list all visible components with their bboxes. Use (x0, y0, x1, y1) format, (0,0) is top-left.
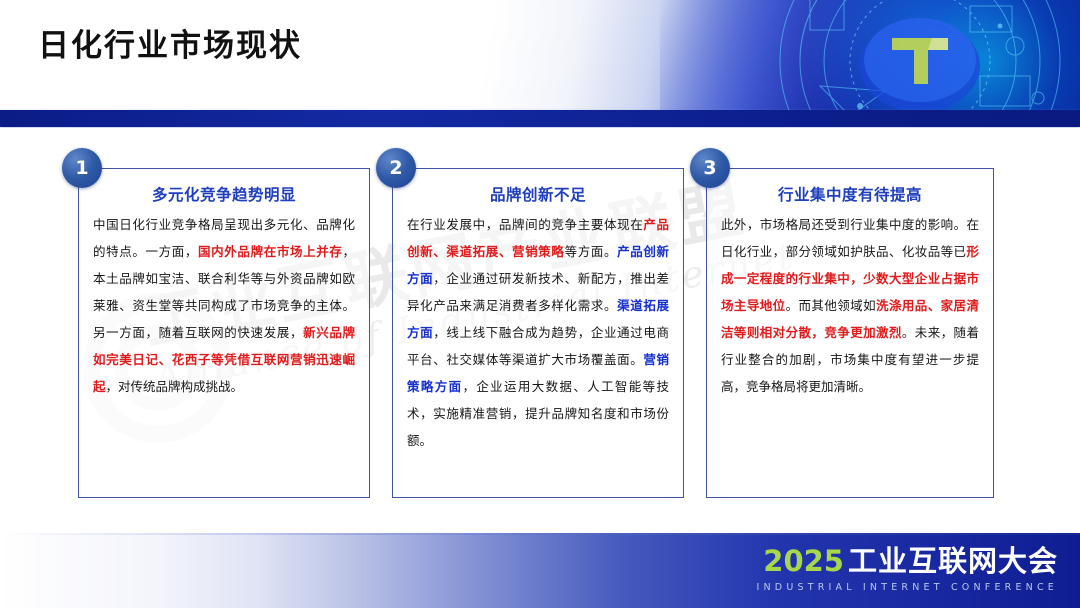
card-title-2: 品牌创新不足 (393, 183, 683, 205)
card-badge-3: 3 (690, 148, 730, 188)
card-title-3: 行业集中度有待提高 (707, 183, 993, 205)
card-badge-2: 2 (376, 148, 416, 188)
text-segment: 国内外品牌在市场上并存 (198, 244, 342, 259)
text-segment: 等方面。 (565, 244, 618, 259)
footer-divider (0, 533, 1080, 535)
text-segment: 在行业发展中，品牌间的竞争主要体现在 (407, 217, 643, 232)
card-body-3: 此外，市场格局还受到行业集中度的影响。在日化行业，部分领域如护肤品、化妆品等已形… (707, 211, 993, 400)
logo-year: 2025 (763, 547, 844, 576)
card-body-1: 中国日化行业竞争格局呈现出多元化、品牌化的特点。一方面，国内外品牌在市场上并存，… (79, 211, 369, 400)
text-segment: 。而其他领域如 (786, 298, 876, 313)
content-card-3: 行业集中度有待提高 此外，市场格局还受到行业集中度的影响。在日化行业，部分领域如… (706, 168, 994, 498)
logo-en-name: INDUSTRIAL INTERNET CONFERENCE (757, 583, 1059, 593)
content-card-2: 品牌创新不足 在行业发展中，品牌间的竞争主要体现在产品创新、渠道拓展、营销策略等… (392, 168, 684, 498)
content-card-1: 多元化竞争趋势明显 中国日化行业竞争格局呈现出多元化、品牌化的特点。一方面，国内… (78, 168, 370, 498)
card-title-1: 多元化竞争趋势明显 (79, 183, 369, 205)
text-segment: ，对传统品牌构成挑战。 (106, 379, 244, 394)
slide-root: 日化行业市场现状 工业互联网产业联盟 Alliance of Industria… (0, 0, 1080, 608)
logo-cn-name: 工业互联网大会 (848, 547, 1058, 576)
slide-footer: 2025 工业互联网大会 INDUSTRIAL INTERNET CONFERE… (0, 533, 1080, 608)
card-body-2: 在行业发展中，品牌间的竞争主要体现在产品创新、渠道拓展、营销策略等方面。产品创新… (393, 211, 683, 454)
text-segment: ，线上线下融合成为趋势，企业通过电商平台、社交媒体等渠道扩大市场覆盖面。 (407, 325, 669, 367)
conference-logo: 2025 工业互联网大会 INDUSTRIAL INTERNET CONFERE… (757, 547, 1059, 593)
card-container: 1 多元化竞争趋势明显 中国日化行业竞争格局呈现出多元化、品牌化的特点。一方面，… (0, 0, 1080, 608)
card-badge-1: 1 (62, 148, 102, 188)
text-segment: 此外，市场格局还受到行业集中度的影响。在日化行业，部分领域如护肤品、化妆品等已 (721, 217, 979, 259)
